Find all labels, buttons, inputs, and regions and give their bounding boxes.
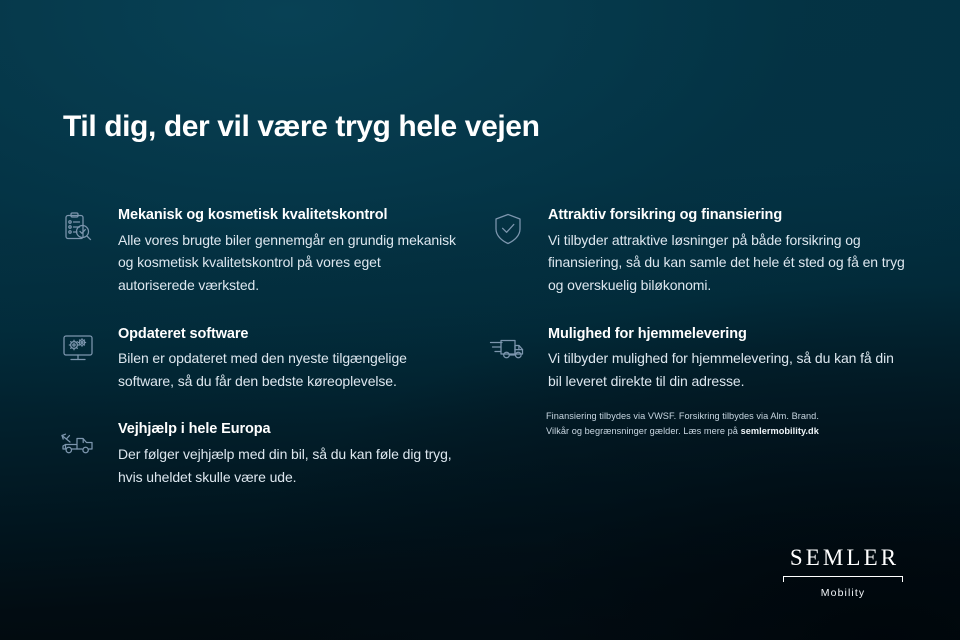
delivery-truck-icon [488,328,528,368]
logo-divider-rule [782,576,904,583]
feature-body: Vi tilbyder mulighed for hjemmelevering,… [548,347,908,392]
clipboard-magnifier-icon [58,209,98,249]
feature-item-home-delivery: Mulighed for hjemmelevering Vi tilbyder … [488,325,908,393]
slide-root: Til dig, der vil være tryg hele vejen [0,0,960,640]
feature-body: Bilen er opdateret med den nyeste tilgæn… [118,347,458,392]
feature-body: Der følger vejhjælp med din bil, så du k… [118,443,458,488]
feature-column-left: Mekanisk og kosmetisk kvalitetskontrol A… [58,206,458,514]
feature-item-updated-software: Opdateret software Bilen er opdateret me… [58,325,458,393]
semler-mobility-logo: SEMLER Mobility [782,546,904,599]
feature-title: Mekanisk og kosmetisk kvalitetskontrol [118,206,458,226]
monitor-gears-icon [58,328,98,368]
page-title: Til dig, der vil være tryg hele vejen [63,110,540,144]
logo-subtitle: Mobility [782,588,904,599]
feature-item-roadside-assistance: Vejhjælp i hele Europa Der følger vejhjæ… [58,420,458,488]
shield-check-icon [488,209,528,249]
fineprint-line-1: Finansiering tilbydes via VWSF. Forsikri… [546,409,876,424]
fineprint-line-2: Vilkår og begrænsninger gælder. Læs mere… [546,424,876,439]
legal-fineprint: Finansiering tilbydes via VWSF. Forsikri… [546,409,876,439]
logo-wordmark: SEMLER [782,546,904,569]
semlermobility-link[interactable]: semlermobility.dk [741,426,819,436]
feature-title: Vejhjælp i hele Europa [118,420,458,440]
feature-title: Opdateret software [118,325,458,345]
feature-column-right: Attraktiv forsikring og finansiering Vi … [488,206,908,418]
feature-title: Mulighed for hjemmelevering [548,325,908,345]
fineprint-line-2-text: Vilkår og begrænsninger gælder. Læs mere… [546,426,741,436]
tow-truck-icon [58,423,98,463]
feature-title: Attraktiv forsikring og finansiering [548,206,908,226]
feature-item-quality-control: Mekanisk og kosmetisk kvalitetskontrol A… [58,206,458,297]
feature-body: Vi tilbyder attraktive løsninger på både… [548,229,908,297]
feature-body: Alle vores brugte biler gennemgår en gru… [118,229,458,297]
feature-item-insurance-financing: Attraktiv forsikring og finansiering Vi … [488,206,908,297]
